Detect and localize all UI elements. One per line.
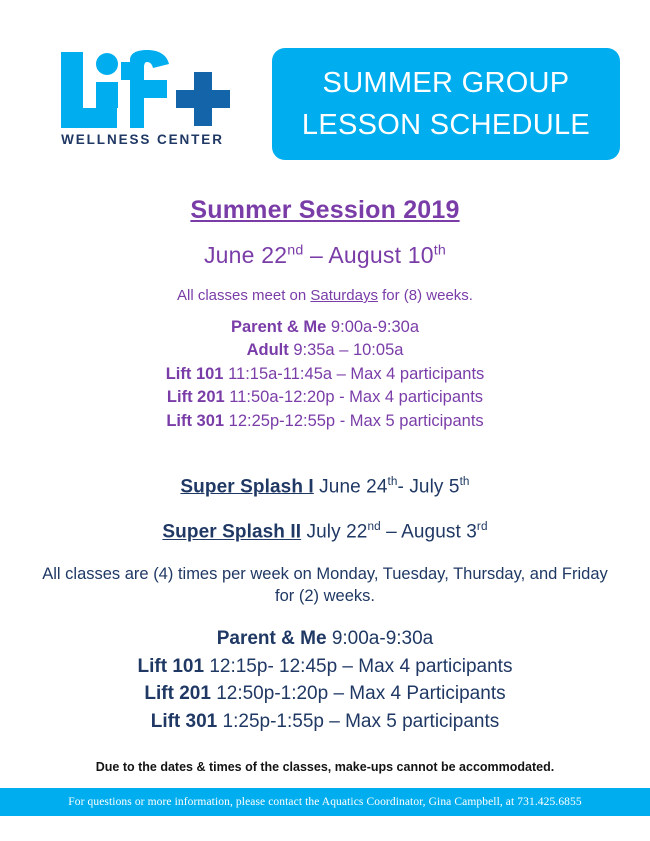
class-detail: 9:35a – 10:05a bbox=[289, 341, 404, 359]
lift-wellness-center-logo: WELLNESS CENTER bbox=[55, 50, 240, 160]
class-name: Parent & Me bbox=[217, 628, 327, 649]
session-date-end-sup: th bbox=[434, 242, 446, 258]
summer-session-title: Summer Session 2019 bbox=[20, 196, 630, 225]
summer-session-class-list: Parent & Me 9:00a-9:30a Adult 9:35a – 10… bbox=[20, 316, 630, 433]
lif-plus-logomark-icon bbox=[55, 50, 240, 130]
class-name: Parent & Me bbox=[231, 318, 326, 336]
super-splash-1-date-end: - July 5 bbox=[398, 476, 460, 497]
class-row: Adult 9:35a – 10:05a bbox=[20, 339, 630, 362]
super-splash-2-heading: Super Splash II July 22nd – August 3rd bbox=[20, 520, 630, 543]
class-row: Lift 201 11:50a-12:20p - Max 4 participa… bbox=[20, 386, 630, 409]
class-detail: 11:50a-12:20p - Max 4 participants bbox=[225, 388, 483, 406]
class-row: Lift 101 12:15p- 12:45p – Max 4 particip… bbox=[20, 653, 630, 681]
banner-line-1: SUMMER GROUP bbox=[323, 62, 570, 104]
super-splash-2-sup-b: rd bbox=[477, 520, 488, 533]
makeups-note: Due to the dates & times of the classes,… bbox=[20, 760, 630, 774]
page-content: Summer Session 2019 June 22nd – August 1… bbox=[0, 196, 650, 804]
class-name: Lift 101 bbox=[166, 365, 224, 383]
class-detail: 12:25p-12:55p - Max 5 participants bbox=[224, 412, 484, 430]
meets-suffix: for (8) weeks. bbox=[378, 287, 473, 304]
banner-line-2: LESSON SCHEDULE bbox=[302, 104, 590, 146]
super-splash-1-sup-a: th bbox=[388, 475, 398, 488]
logo-wordmark: WELLNESS CENTER bbox=[55, 132, 230, 147]
meets-prefix: All classes meet on bbox=[177, 287, 310, 304]
class-row: Lift 301 12:25p-12:55p - Max 5 participa… bbox=[20, 410, 630, 433]
super-splash-1-sup-b: th bbox=[460, 475, 470, 488]
super-splash-2-date-end: – August 3 bbox=[381, 522, 477, 543]
class-detail: 9:00a-9:30a bbox=[327, 628, 434, 649]
class-row: Lift 301 1:25p-1:55p – Max 5 participant… bbox=[20, 708, 630, 736]
super-splash-1-label: Super Splash I bbox=[180, 476, 313, 497]
class-detail: 11:15a-11:45a – Max 4 participants bbox=[223, 365, 484, 383]
summer-session-dates: June 22nd – August 10th bbox=[20, 242, 630, 269]
class-detail: 12:50p-1:20p – Max 4 Participants bbox=[211, 683, 506, 704]
class-row: Parent & Me 9:00a-9:30a bbox=[20, 316, 630, 339]
super-splash-1-date-start: June 24 bbox=[314, 476, 388, 497]
class-name: Adult bbox=[247, 341, 289, 359]
class-row: Lift 101 11:15a-11:45a – Max 4 participa… bbox=[20, 363, 630, 386]
super-splash-frequency-line: All classes are (4) times per week on Mo… bbox=[20, 563, 630, 608]
super-splash-class-list: Parent & Me 9:00a-9:30a Lift 101 12:15p-… bbox=[20, 625, 630, 735]
contact-footer-bar: For questions or more information, pleas… bbox=[0, 788, 650, 816]
class-detail: 9:00a-9:30a bbox=[326, 318, 419, 336]
session-date-start: June 22 bbox=[204, 242, 287, 268]
logo-mark bbox=[55, 50, 240, 130]
class-name: Lift 301 bbox=[151, 711, 218, 732]
class-name: Lift 101 bbox=[138, 656, 205, 677]
page-header: WELLNESS CENTER SUMMER GROUP LESSON SCHE… bbox=[0, 0, 650, 170]
class-row: Parent & Me 9:00a-9:30a bbox=[20, 625, 630, 653]
summer-group-lesson-schedule-banner: SUMMER GROUP LESSON SCHEDULE bbox=[272, 48, 620, 160]
super-splash-2-sup-a: nd bbox=[367, 520, 380, 533]
saturday-meets-line: All classes meet on Saturdays for (8) we… bbox=[20, 287, 630, 304]
class-name: Lift 201 bbox=[167, 388, 225, 406]
super-splash-1-heading: Super Splash I June 24th- July 5th bbox=[20, 475, 630, 498]
super-splash-2-label: Super Splash II bbox=[162, 522, 301, 543]
meets-day: Saturdays bbox=[310, 287, 378, 304]
class-name: Lift 201 bbox=[144, 683, 211, 704]
contact-footer-text: For questions or more information, pleas… bbox=[68, 796, 581, 808]
session-date-start-sup: nd bbox=[287, 242, 303, 258]
class-detail: 12:15p- 12:45p – Max 4 participants bbox=[204, 656, 512, 677]
class-row: Lift 201 12:50p-1:20p – Max 4 Participan… bbox=[20, 680, 630, 708]
super-splash-2-date-start: July 22 bbox=[301, 522, 367, 543]
session-date-sep: – August 10 bbox=[303, 242, 433, 268]
class-name: Lift 301 bbox=[166, 412, 224, 430]
class-detail: 1:25p-1:55p – Max 5 participants bbox=[217, 711, 499, 732]
